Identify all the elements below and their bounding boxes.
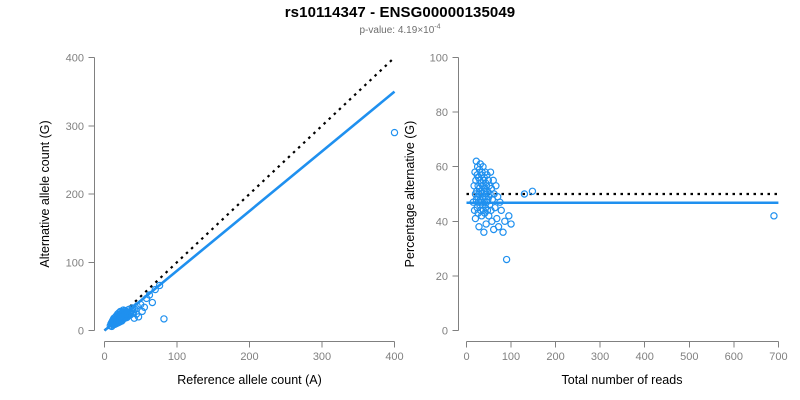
left-x-tick-0: 0 xyxy=(101,351,107,363)
left-scatter-panel: 400 300 200 100 0 0 100 200 300 400 Refe… xyxy=(38,53,404,388)
right-y-axis-line xyxy=(453,58,459,331)
right-y-tick-20: 20 xyxy=(436,271,448,283)
left-y-axis-line xyxy=(89,58,95,331)
left-x-tick-100: 100 xyxy=(168,351,186,363)
right-data-point xyxy=(502,218,508,224)
left-x-tick-300: 300 xyxy=(313,351,331,363)
left-data-point xyxy=(161,316,167,322)
left-y-tick-200: 200 xyxy=(66,189,84,201)
right-x-tick-labels: 0 100 200 300 400 500 600 700 xyxy=(463,351,787,363)
right-data-point xyxy=(504,256,510,262)
right-data-point xyxy=(508,221,514,227)
right-plot-geometry xyxy=(467,158,779,262)
left-y-tick-400: 400 xyxy=(66,53,84,65)
right-y-tick-80: 80 xyxy=(436,107,448,119)
right-scatter-panel: 100 80 60 40 20 0 0 100 200 300 400 500 … xyxy=(403,53,788,388)
left-data-point xyxy=(149,299,155,305)
left-y-tick-100: 100 xyxy=(66,257,84,269)
left-fit-line xyxy=(105,92,395,331)
left-data-point xyxy=(391,129,397,135)
left-y-tick-0: 0 xyxy=(78,326,84,338)
right-x-tick-300: 300 xyxy=(591,351,609,363)
left-reference-line xyxy=(105,58,395,331)
right-data-point xyxy=(498,207,504,213)
right-data-point xyxy=(494,215,500,221)
left-x-axis-title: Reference allele count (A) xyxy=(177,373,322,387)
left-plot-geometry xyxy=(105,58,398,331)
right-y-axis-title: Percentage alternative (G) xyxy=(403,121,417,268)
figure-container: rs10114347 - ENSG00000135049 p-value: 4.… xyxy=(0,0,800,400)
right-x-tick-600: 600 xyxy=(725,351,743,363)
right-x-tick-200: 200 xyxy=(546,351,564,363)
right-x-tick-500: 500 xyxy=(680,351,698,363)
left-y-axis-title: Alternative allele count (G) xyxy=(38,120,52,267)
plot-canvas: 400 300 200 100 0 0 100 200 300 400 Refe… xyxy=(0,0,800,400)
right-y-tick-labels: 100 80 60 40 20 0 xyxy=(430,53,448,338)
right-data-point xyxy=(495,224,501,230)
right-data-point xyxy=(529,188,535,194)
right-data-point xyxy=(481,229,487,235)
right-x-axis-line xyxy=(467,342,779,348)
right-x-tick-400: 400 xyxy=(636,351,654,363)
left-x-tick-400: 400 xyxy=(385,351,403,363)
left-y-tick-300: 300 xyxy=(66,121,84,133)
right-data-point xyxy=(500,229,506,235)
left-x-tick-labels: 0 100 200 300 400 xyxy=(101,351,403,363)
left-x-tick-200: 200 xyxy=(240,351,258,363)
right-y-tick-100: 100 xyxy=(430,53,448,65)
right-y-tick-60: 60 xyxy=(436,162,448,174)
right-data-point xyxy=(476,224,482,230)
right-y-tick-40: 40 xyxy=(436,216,448,228)
right-x-tick-700: 700 xyxy=(769,351,787,363)
right-y-tick-0: 0 xyxy=(442,326,448,338)
left-y-tick-labels: 400 300 200 100 0 xyxy=(66,53,84,338)
left-x-axis-line xyxy=(105,342,395,348)
right-x-tick-100: 100 xyxy=(502,351,520,363)
right-data-point xyxy=(506,213,512,219)
right-x-tick-0: 0 xyxy=(463,351,469,363)
right-data-point xyxy=(771,213,777,219)
right-x-axis-title: Total number of reads xyxy=(562,373,683,387)
